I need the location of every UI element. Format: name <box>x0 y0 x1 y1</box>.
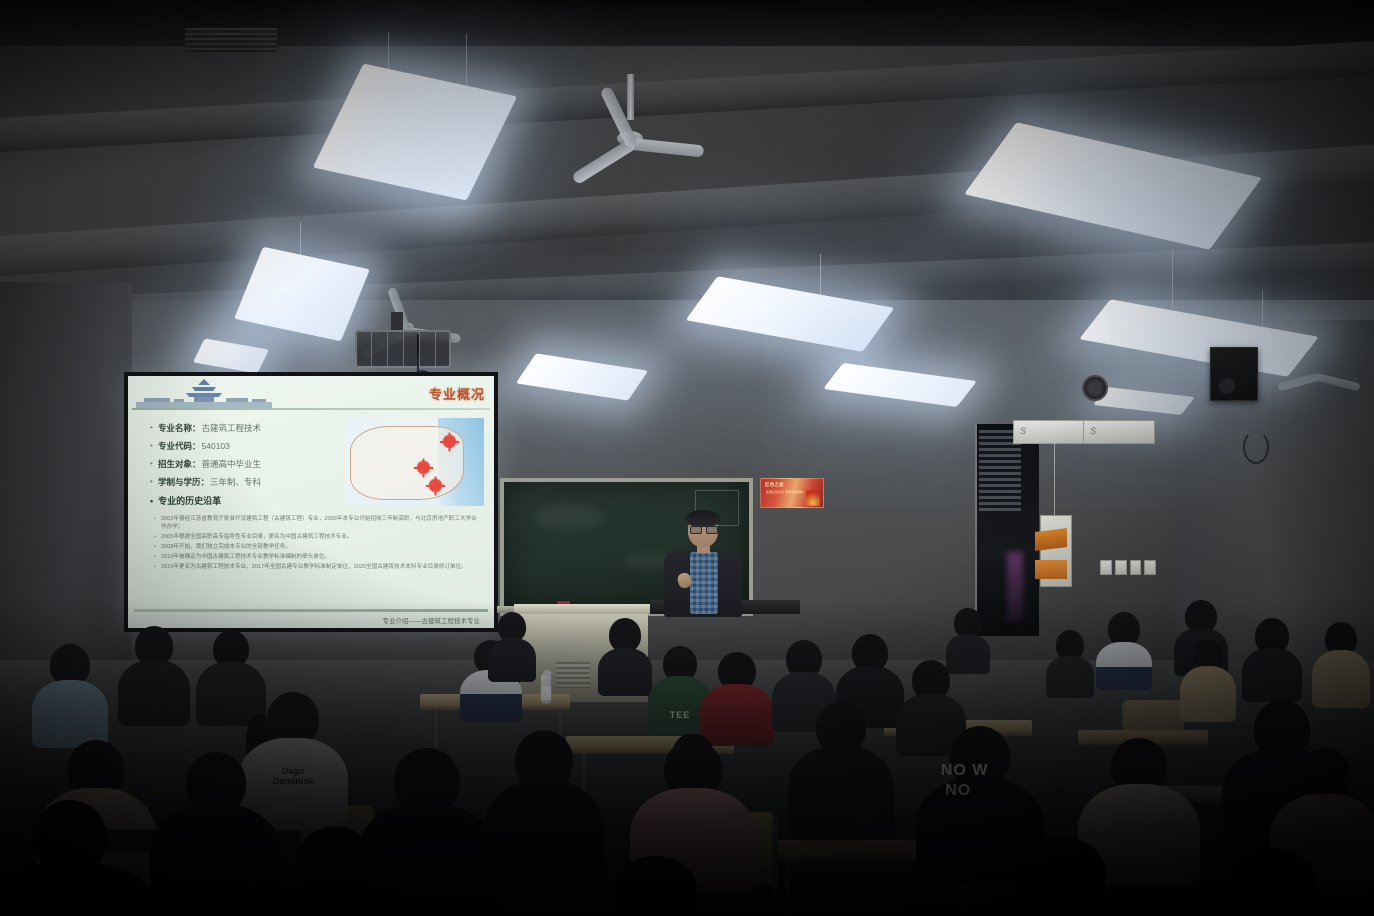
history-item: •2015年更名为古建筑工程技术专业，2017年全国古建专业教学标准制定单位，2… <box>154 564 480 572</box>
torso <box>560 908 750 916</box>
projector-mount <box>391 312 403 332</box>
banner-flag-graphic <box>806 490 820 506</box>
bottle-cap <box>543 670 551 675</box>
bullet-dot: • <box>150 440 158 451</box>
bullet-dot: • <box>150 476 158 487</box>
torso <box>488 638 536 682</box>
jacket-text-line1: NO W <box>941 762 989 780</box>
warning-sign-lower <box>1035 560 1067 579</box>
water-bottle[interactable] <box>541 675 551 704</box>
slide-bullet-list: • 专业名称：古建筑工程技术 • 专业代码：540103 • 招生对象：普通高中… <box>150 422 330 494</box>
chalk-smudge <box>534 504 604 530</box>
bullet-value: 古建筑工程技术 <box>202 423 262 433</box>
bullet-dot: • <box>154 564 161 572</box>
student-back-row <box>1046 630 1094 694</box>
section-heading-text: 专业的历史沿革 <box>158 496 221 506</box>
torso <box>0 862 150 916</box>
wall-switches[interactable] <box>1100 560 1156 575</box>
slide-bullet: • 学制与学历：三年制、专科 <box>150 476 330 488</box>
student-front-row <box>560 856 750 916</box>
chair-frame <box>772 818 778 910</box>
student-light-blue <box>32 644 108 744</box>
history-text: 2002年报经江苏省教育厅批准开设建筑工程（古建筑工程）专业，2003年本专业开… <box>161 516 480 531</box>
temple-of-heaven-icon <box>136 378 272 408</box>
bullet-value: 540103 <box>202 441 230 451</box>
slide-bullet: • 招生对象：普通高中毕业生 <box>150 458 330 470</box>
history-text: 2015年更名为古建筑工程技术专业，2017年全国古建专业教学标准制定单位，20… <box>161 564 467 572</box>
presenter-shirt <box>690 552 718 614</box>
ceiling-fan-front <box>560 118 700 158</box>
head <box>609 618 641 652</box>
student-tan-coat <box>1312 622 1370 708</box>
speaker-cone <box>1219 378 1235 394</box>
ceiling-projector <box>355 330 451 368</box>
slide-header: 专业概况 <box>128 376 494 410</box>
map-marker-1 <box>442 434 457 449</box>
projector-cage <box>355 330 451 368</box>
podium-vent <box>556 662 590 688</box>
history-text: 2010年被确定为中国古建筑工程技术专业教学标准编制的牵头单位。 <box>161 554 330 562</box>
torso <box>1242 648 1302 702</box>
bullet-key: 专业代码： <box>158 441 201 451</box>
corridor-light-glow <box>1007 552 1023 622</box>
section-bullet-dot: • <box>150 496 158 506</box>
student-back-row <box>488 612 536 678</box>
torso <box>700 684 774 746</box>
slide-footer: 专业介绍——古建筑工程技术专业 <box>383 615 481 625</box>
bullet-dot: • <box>150 422 158 433</box>
bullet-value: 普通高中毕业生 <box>202 459 262 469</box>
torso <box>1178 904 1368 916</box>
map-marker-3 <box>428 478 443 493</box>
slide-bullet: • 专业名称：古建筑工程技术 <box>150 422 330 434</box>
torso <box>250 886 420 916</box>
electrical-panel <box>1040 515 1072 587</box>
bullet-key: 招生对象： <box>158 459 201 469</box>
ceiling-vent <box>185 28 277 52</box>
projection-screen: 专业概况 • 专业名称：古建筑工程技术 • 专业代码：540103 <box>124 372 498 632</box>
history-item: •2002年报经江苏省教育厅批准开设建筑工程（古建筑工程）专业，2003年本专业… <box>154 516 480 531</box>
classroom-photo: 专业概况 • 专业名称：古建筑工程技术 • 专业代码：540103 <box>0 0 1374 916</box>
banner-subtitle: 弘扬红色文化 传承革命精神 <box>766 490 803 494</box>
bullet-key: 学制与学历： <box>158 477 209 487</box>
warning-sign-upper <box>1035 528 1067 551</box>
torso <box>598 648 652 696</box>
bullet-key: 专业名称： <box>158 423 201 433</box>
student-front-row <box>960 836 1160 916</box>
slide-footer-rule <box>134 609 488 612</box>
wall-banner: 红色之旅 弘扬红色文化 传承革命精神 <box>760 478 824 508</box>
jacket-text: TEE <box>670 710 691 720</box>
student-back-row <box>1096 612 1152 686</box>
lamp-wire <box>466 34 467 92</box>
air-conditioner-right: S <box>1083 420 1155 444</box>
student-front-row <box>1178 848 1368 916</box>
torso <box>1096 642 1152 690</box>
fan-rod <box>627 74 634 120</box>
desk-leg <box>784 862 789 916</box>
bullet-dot: • <box>150 458 158 469</box>
torso <box>1046 656 1094 698</box>
bullet-dot: • <box>154 534 161 542</box>
bullet-dot: • <box>154 516 161 524</box>
hanging-cable-loop <box>1243 430 1269 464</box>
bullet-value: 三年制、专科 <box>210 477 261 487</box>
head <box>613 856 697 916</box>
torso <box>32 680 108 748</box>
bullet-dot: • <box>154 554 161 562</box>
history-item: •2010年被确定为中国古建筑工程技术专业教学标准编制的牵头单位。 <box>154 554 480 562</box>
lamp-wire <box>1172 250 1173 308</box>
student-mid-row <box>788 702 894 838</box>
slide-header-rule <box>132 408 490 410</box>
bottle-label <box>541 686 551 700</box>
slide: 专业概况 • 专业名称：古建筑工程技术 • 专业代码：540103 <box>128 376 494 628</box>
air-conditioner-left: S <box>1013 420 1085 444</box>
bullet-dot: • <box>154 544 161 552</box>
map-marker-2 <box>416 460 431 475</box>
panel-conduit <box>1054 442 1055 516</box>
chair-back <box>1122 700 1184 740</box>
jacket-text-line2: NO <box>945 782 971 800</box>
student-back-row <box>1242 618 1302 700</box>
glasses-icon <box>690 526 716 532</box>
history-text: 2005年根据全国高职高专指导性专业目录，更名为中国古建筑工程技术专业。 <box>161 534 352 542</box>
banner-title: 红色之旅 <box>765 482 784 488</box>
left-wall <box>0 282 132 702</box>
china-map-graphic <box>346 418 484 506</box>
student-back-row <box>598 618 652 692</box>
history-text: 2008年开始，我们独立完成本专业的全部教学任务。 <box>161 544 291 552</box>
presenter-hair <box>686 510 720 527</box>
student-back-row <box>118 626 190 722</box>
student-front-row <box>0 800 150 916</box>
wall-clock <box>1082 375 1108 401</box>
wall-speaker <box>1210 347 1258 401</box>
history-item: •2008年开始，我们独立完成本专业的全部教学任务。 <box>154 544 480 552</box>
slide-title: 专业概况 <box>429 384 485 403</box>
slide-section-heading: • 专业的历史沿革 <box>150 494 221 507</box>
fan-blade <box>629 138 704 158</box>
head <box>1108 612 1140 646</box>
torso <box>118 660 190 726</box>
student-red-hood <box>700 652 774 744</box>
presenter <box>660 513 746 617</box>
slide-bullet: • 专业代码：540103 <box>150 440 330 452</box>
torso <box>788 746 894 840</box>
classroom-door[interactable] <box>975 424 1039 636</box>
student-front-row <box>250 826 420 916</box>
history-item: •2005年根据全国高职高专指导性专业目录，更名为中国古建筑工程技术专业。 <box>154 534 480 542</box>
slide-history-list: •2002年报经江苏省教育厅批准开设建筑工程（古建筑工程）专业，2003年本专业… <box>154 516 480 574</box>
torso <box>960 896 1160 916</box>
